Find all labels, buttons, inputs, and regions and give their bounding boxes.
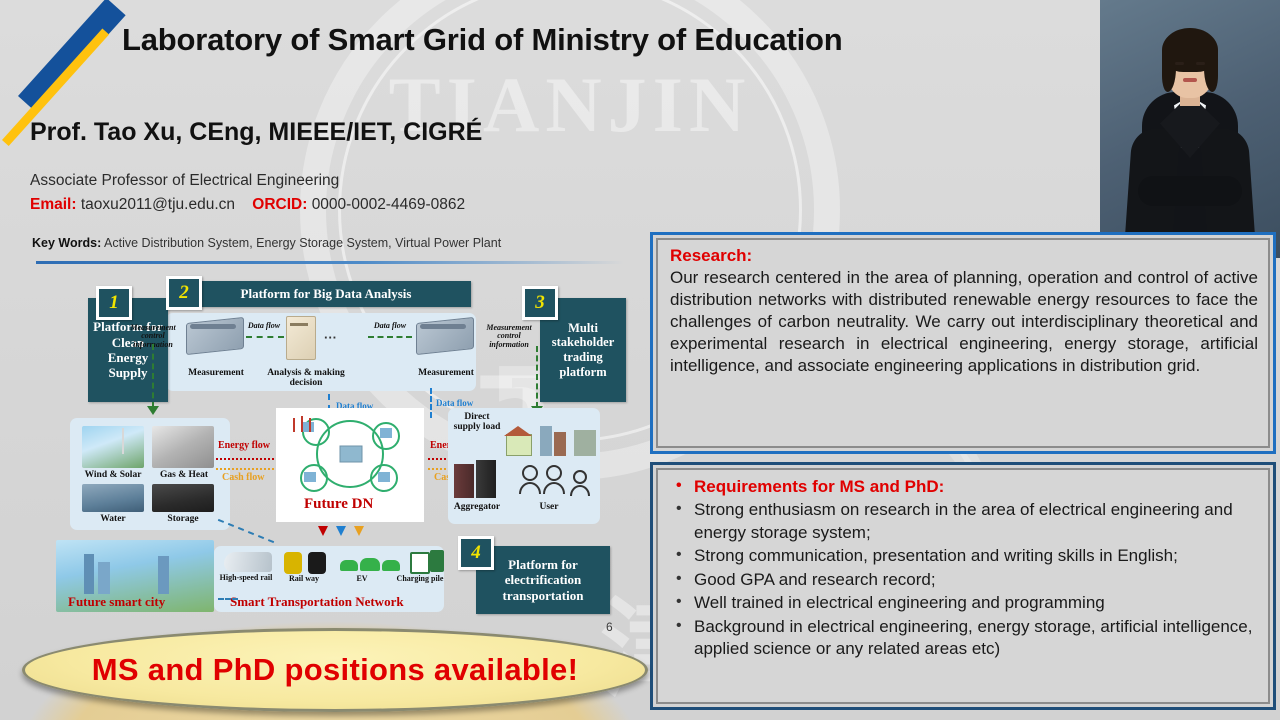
factory-icon — [574, 430, 596, 456]
photo-mouth — [1183, 78, 1197, 82]
future-dn-label: Future DN — [304, 496, 373, 513]
water-photo — [82, 484, 144, 512]
center-flow-orange — [354, 526, 364, 536]
requirements-panel: Requirements for MS and PhD: Strong enth… — [650, 462, 1276, 710]
requirements-heading: Requirements for MS and PhD: — [668, 476, 1258, 498]
load-label: User — [524, 502, 574, 512]
building-icon-2 — [554, 432, 566, 456]
requirements-panel-inner: Requirements for MS and PhD: Strong enth… — [656, 468, 1270, 704]
measurement-control-label: Measurement control information — [480, 324, 538, 349]
platform4-number: 4 — [458, 536, 494, 570]
direct-supply-load-label: Direct supply load — [450, 412, 504, 433]
dataflow-label: Data flow — [240, 322, 288, 330]
city-building-3 — [158, 556, 169, 594]
future-dn-network-icon — [280, 412, 420, 496]
architecture-diagram: Platform for Big Data Analysis 2 ··· Mea… — [18, 268, 644, 624]
center-flow-red — [318, 526, 328, 536]
wind-turbine-icon — [122, 428, 124, 454]
measurement-arrow-left — [152, 344, 154, 408]
positions-banner: MS and PhD positions available! — [22, 628, 648, 712]
professor-position: Associate Professor of Electrical Engine… — [30, 172, 339, 190]
slide-canvas: TIANJIN 天 津 5 Laboratory of Smart Grid o… — [0, 0, 1280, 720]
dataflow-right-label: Data flow — [436, 398, 473, 408]
bigdata-node-label: Measurement — [406, 368, 486, 378]
ev-icon-1 — [340, 560, 358, 571]
research-panel: Research: Our research centered in the a… — [650, 232, 1276, 454]
city-building-1 — [84, 554, 94, 594]
transport-label: High-speed rail — [218, 574, 274, 583]
dataflow-arrow-2 — [368, 336, 412, 338]
user-group-icon — [518, 464, 594, 498]
photo-crossed-arms — [1138, 176, 1242, 206]
list-item: Well trained in electrical engineering a… — [668, 592, 1258, 614]
photo-hair-right — [1204, 52, 1218, 92]
cash-flow-arrow-left — [216, 468, 278, 470]
page-title: Laboratory of Smart Grid of Ministry of … — [122, 22, 842, 58]
decorative-stripe-blue — [18, 0, 126, 113]
measurement-server-1-icon — [186, 317, 244, 355]
orcid-value[interactable]: 0000-0002-4469-0862 — [312, 196, 465, 213]
tower-vent — [290, 323, 308, 326]
research-heading: Research: — [670, 246, 1258, 266]
railway-icon-yellow — [284, 552, 302, 574]
aggregator-rack-1-icon — [454, 464, 474, 498]
measurement-arrow-right — [536, 346, 538, 408]
email-label: Email: — [30, 196, 77, 213]
house-icon — [506, 434, 532, 456]
supply-label: Water — [84, 514, 142, 524]
dataflow-right-arrow — [430, 388, 432, 418]
platform1-number: 1 — [96, 286, 132, 320]
photo-eye-left — [1175, 62, 1184, 65]
bigdata-node-label: Analysis & making decision — [254, 368, 358, 388]
ev-icon-2 — [360, 558, 380, 571]
charging-pile-icon — [430, 550, 444, 572]
contact-line: Email: taoxu2011@tju.edu.cn ORCID: 0000-… — [30, 196, 465, 214]
platform2-header: Platform for Big Data Analysis — [181, 281, 471, 307]
aggregator-rack-2-icon — [476, 460, 496, 498]
supply-label: Gas & Heat — [148, 470, 220, 480]
supply-label: Wind & Solar — [76, 470, 150, 480]
city-building-2 — [98, 562, 110, 594]
page-number: 6 — [606, 620, 613, 634]
city-transport-link — [218, 598, 238, 600]
server-1-slot — [190, 324, 236, 329]
cash-flow-label-left: Cash flow — [222, 472, 265, 483]
list-item: Strong communication, presentation and w… — [668, 545, 1258, 567]
building-icon-1 — [540, 426, 552, 456]
keywords-value: Active Distribution System, Energy Stora… — [104, 236, 501, 250]
list-item: Background in electrical engineering, en… — [668, 616, 1258, 661]
energy-flow-arrow-left — [216, 458, 278, 460]
transport-label: EV — [344, 574, 380, 583]
supply-label: Storage — [154, 514, 212, 524]
center-flow-blue — [336, 526, 346, 536]
house-roof-icon — [504, 426, 532, 436]
keywords-line: Key Words: Active Distribution System, E… — [32, 236, 501, 250]
keywords-label: Key Words: — [32, 236, 101, 250]
measurement-server-2-icon — [416, 317, 474, 355]
positions-banner-text: MS and PhD positions available! — [92, 652, 578, 688]
wind-solar-photo — [82, 426, 144, 468]
research-panel-inner: Research: Our research centered in the a… — [656, 238, 1270, 448]
list-item: Good GPA and research record; — [668, 569, 1258, 591]
professor-name: Prof. Tao Xu, CEng, MIEEE/IET, CIGRÉ — [30, 118, 482, 147]
platform3-number: 3 — [522, 286, 558, 320]
energy-flow-label-left: Energy flow — [218, 440, 270, 451]
storage-photo — [152, 484, 214, 512]
ellipsis: ··· — [324, 330, 337, 345]
measurement-arrowhead-left — [147, 406, 159, 415]
photo-eye-right — [1196, 62, 1205, 65]
ev-icon-3 — [382, 560, 400, 571]
transport-label: Charging pile — [390, 574, 450, 583]
professor-photo — [1100, 0, 1280, 258]
battery-icon — [410, 552, 430, 574]
server-2-slot — [420, 324, 466, 329]
transport-label: Rail way — [276, 574, 332, 583]
email-value[interactable]: taoxu2011@tju.edu.cn — [81, 196, 235, 213]
dataflow-label: Data flow — [366, 322, 414, 330]
requirements-list: Requirements for MS and PhD: Strong enth… — [668, 476, 1258, 661]
research-body: Our research centered in the area of pla… — [670, 267, 1258, 377]
load-label: Aggregator — [448, 502, 506, 512]
high-speed-rail-icon — [224, 552, 272, 572]
city-link-arrow — [218, 519, 274, 543]
orcid-label: ORCID: — [252, 196, 307, 213]
bigdata-node-label: Measurement — [176, 368, 256, 378]
gas-heat-photo — [152, 426, 214, 468]
list-item: Strong enthusiasm on research in the are… — [668, 499, 1258, 544]
header-divider — [36, 261, 624, 264]
railway-icon-black — [308, 552, 326, 574]
platform2-number: 2 — [166, 276, 202, 310]
dataflow-arrow-1 — [246, 336, 284, 338]
